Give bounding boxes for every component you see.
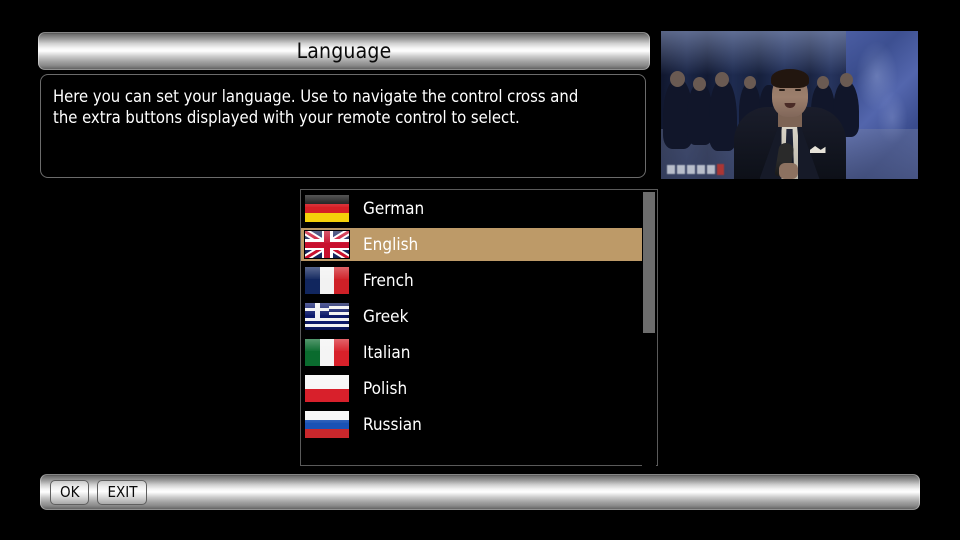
video-preview[interactable] xyxy=(661,31,918,179)
list-item[interactable]: Russian xyxy=(301,408,643,441)
list-item-label: English xyxy=(363,235,418,255)
list-item[interactable]: Greek xyxy=(301,300,643,333)
video-crowd-head xyxy=(744,76,756,89)
bug-cell xyxy=(697,165,705,174)
bug-cell-red xyxy=(717,164,724,175)
video-crowd-head xyxy=(840,73,853,87)
list-item-selected[interactable]: English xyxy=(301,228,642,261)
list-item-label: German xyxy=(363,199,424,219)
list-item-label: Polish xyxy=(363,379,407,399)
list-item-label: Russian xyxy=(363,415,422,435)
scrollbar-track[interactable] xyxy=(642,191,656,466)
list-item[interactable]: Italian xyxy=(301,336,643,369)
exit-button[interactable]: EXIT xyxy=(97,480,147,505)
language-list-panel: German English French Greek xyxy=(300,189,658,466)
flag-uk-icon xyxy=(305,231,349,258)
flag-gr-icon xyxy=(305,303,349,330)
reporter-hair xyxy=(771,69,809,88)
video-crowd-head xyxy=(693,77,706,91)
flag-fr-icon xyxy=(305,267,349,294)
list-item-label: Greek xyxy=(363,307,408,327)
list-item-label: Italian xyxy=(363,343,410,363)
description-panel: Here you can set your language. Use to n… xyxy=(40,74,646,178)
video-crowd-head xyxy=(670,71,685,87)
video-crowd-head xyxy=(817,76,829,89)
flag-de-icon xyxy=(305,195,349,222)
scrollbar-thumb[interactable] xyxy=(643,192,655,333)
list-item[interactable]: French xyxy=(301,264,643,297)
bug-cell xyxy=(687,165,695,174)
bottom-button-bar: OK EXIT xyxy=(40,474,920,510)
reporter-eye-right xyxy=(795,89,801,92)
reporter-hand xyxy=(779,163,798,179)
list-item[interactable]: Polish xyxy=(301,372,643,405)
flag-ru-icon xyxy=(305,411,349,438)
description-text: Here you can set your language. Use to n… xyxy=(53,86,633,128)
bug-cell xyxy=(667,165,675,174)
page-title: Language xyxy=(297,39,392,63)
list-item[interactable]: German xyxy=(301,192,643,225)
video-crowd-head xyxy=(715,72,729,87)
channel-logo-bug xyxy=(667,164,724,175)
language-list: German English French Greek xyxy=(301,192,643,444)
list-item-label: French xyxy=(363,271,414,291)
flag-pl-icon xyxy=(305,375,349,402)
ok-button[interactable]: OK xyxy=(50,480,89,505)
title-bar: Language xyxy=(38,32,650,70)
flag-it-icon xyxy=(305,339,349,366)
bug-cell xyxy=(707,165,715,174)
bug-cell xyxy=(677,165,685,174)
reporter-eye-left xyxy=(779,89,785,92)
